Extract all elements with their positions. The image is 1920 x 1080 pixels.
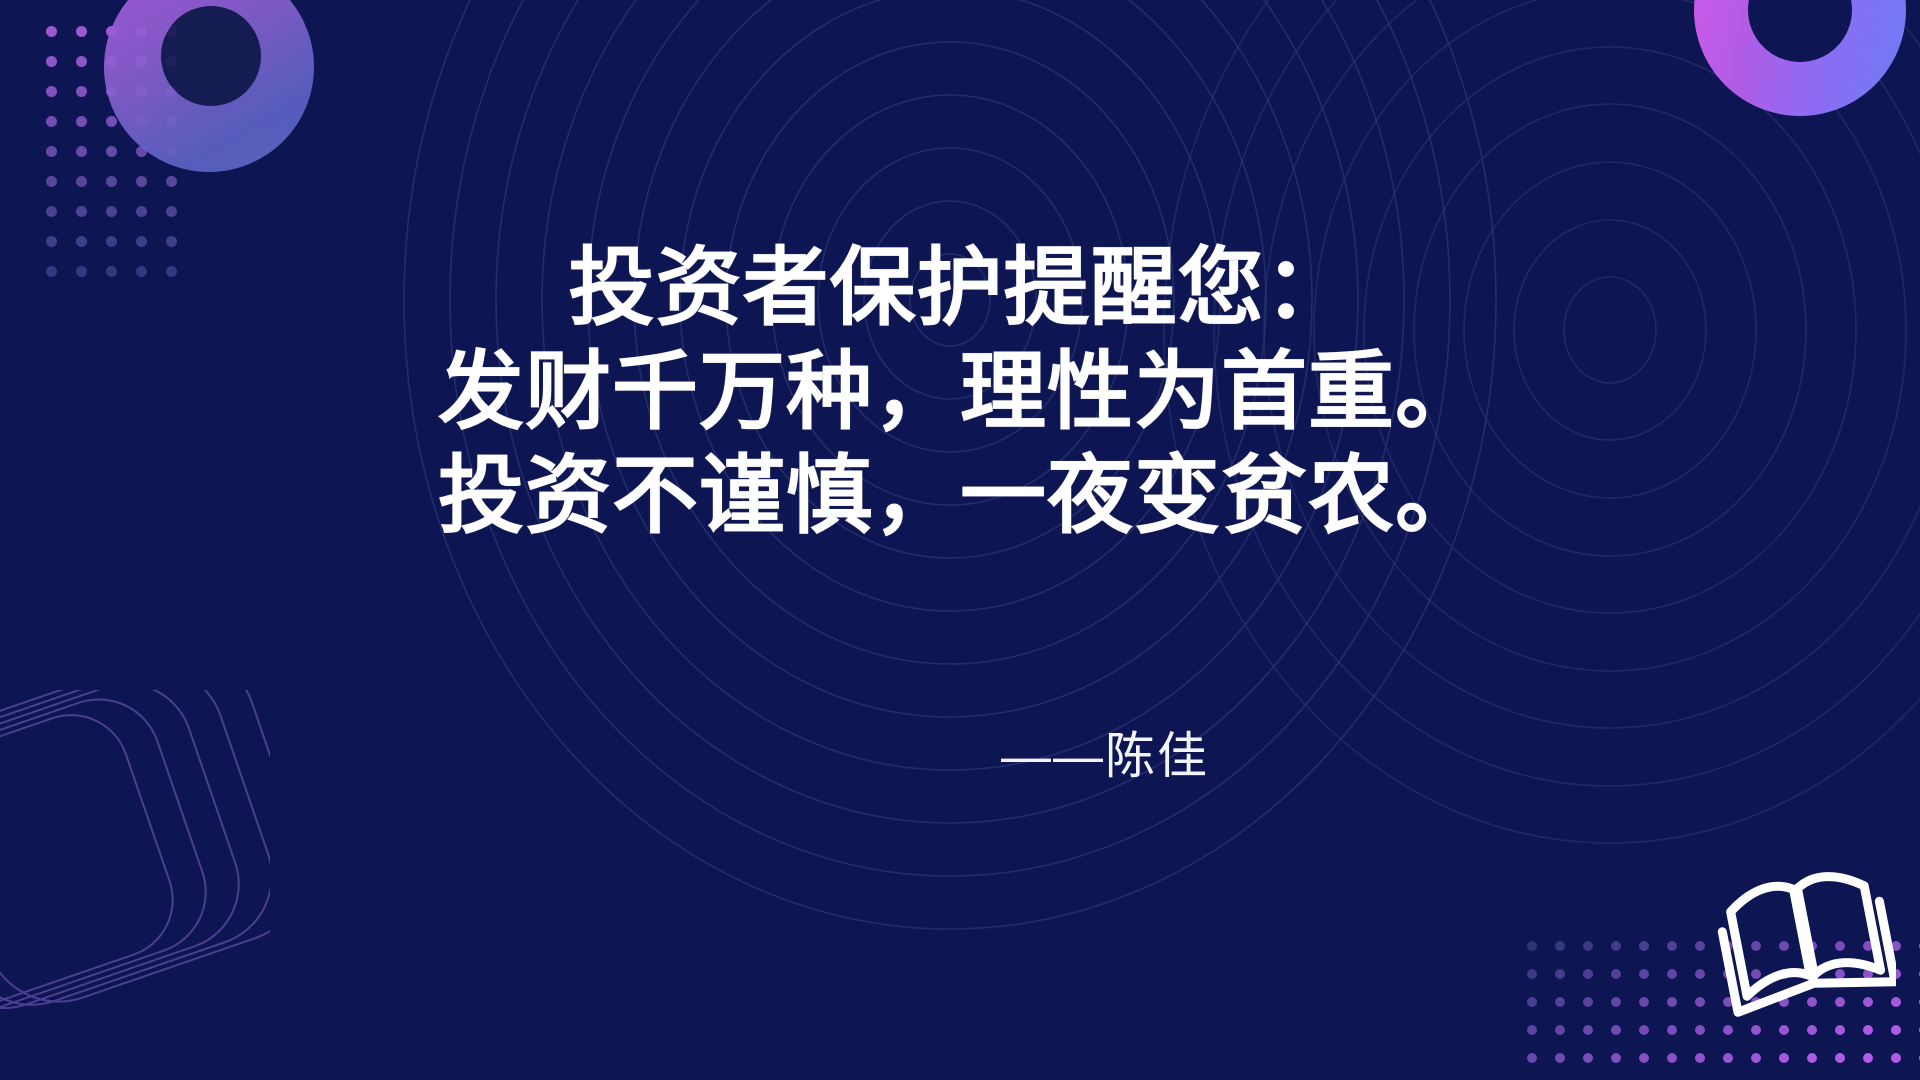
slide-canvas: 投资者保护提醒您： 发财千万种，理性为首重。 投资不谨慎，一夜变贫农。 ——陈佳 (0, 0, 1920, 1080)
ring-hole (161, 6, 261, 106)
grid-dot (1891, 1053, 1901, 1063)
grid-dot (1863, 1053, 1873, 1063)
grid-dot (1695, 1025, 1705, 1035)
grid-dot (1667, 1053, 1677, 1063)
grid-dot (1667, 1025, 1677, 1035)
grid-dot (106, 206, 117, 217)
grid-dot (46, 146, 57, 157)
grid-dot (106, 176, 117, 187)
grid-dot (1583, 941, 1593, 951)
grid-dot (1527, 997, 1537, 1007)
grid-dot (1583, 997, 1593, 1007)
grid-dot (1695, 997, 1705, 1007)
grid-dot (1639, 969, 1649, 979)
quote-block: 投资者保护提醒您： 发财千万种，理性为首重。 投资不谨慎，一夜变贫农。 (0, 236, 1920, 548)
grid-dot (1611, 1053, 1621, 1063)
grid-dot (1835, 1053, 1845, 1063)
grid-dot (1667, 997, 1677, 1007)
grid-dot (1779, 1053, 1789, 1063)
grid-dot (1667, 941, 1677, 951)
grid-dot (76, 86, 87, 97)
grid-dot (46, 206, 57, 217)
grid-dot (1555, 1025, 1565, 1035)
grid-dot (1695, 1053, 1705, 1063)
grid-dot (1527, 1053, 1537, 1063)
grid-dot (1639, 1053, 1649, 1063)
grid-dot (1583, 1025, 1593, 1035)
grid-dot (1611, 1025, 1621, 1035)
grid-dot (1695, 941, 1705, 951)
grid-dot (1555, 969, 1565, 979)
grid-dot (1583, 969, 1593, 979)
grid-dot (1527, 1025, 1537, 1035)
grid-dot (1695, 969, 1705, 979)
grid-dot (1639, 941, 1649, 951)
grid-dot (76, 206, 87, 217)
grid-dot (1611, 941, 1621, 951)
grid-dot (46, 86, 57, 97)
grid-dot (1611, 969, 1621, 979)
grid-dot (1555, 941, 1565, 951)
grid-dot (1667, 969, 1677, 979)
grid-dot (1527, 969, 1537, 979)
quote-line-3: 投资不谨慎，一夜变贫农。 (0, 444, 1920, 548)
grid-dot (1751, 1053, 1761, 1063)
grid-dot (166, 176, 177, 187)
grid-dot (46, 116, 57, 127)
grid-dot (46, 56, 57, 67)
grid-dot (1807, 1053, 1817, 1063)
ring-hole (1748, 0, 1852, 62)
grid-dot (1639, 1025, 1649, 1035)
grid-dot (106, 116, 117, 127)
quote-line-2: 发财千万种，理性为首重。 (0, 340, 1920, 444)
attribution-text: ——陈佳 (1001, 726, 1209, 786)
grid-dot (76, 116, 87, 127)
grid-dot (46, 176, 57, 187)
quote-line-1: 投资者保护提醒您： (0, 236, 1920, 340)
grid-dot (76, 176, 87, 187)
open-book-icon (1716, 858, 1896, 1028)
gradient-ring-icon (1694, 0, 1906, 116)
attribution: ——陈佳 (0, 726, 1920, 786)
grid-dot (76, 146, 87, 157)
grid-dot (1555, 1053, 1565, 1063)
grid-dot (1723, 1053, 1733, 1063)
grid-dot (106, 146, 117, 157)
grid-dot (136, 206, 147, 217)
grid-dot (76, 26, 87, 37)
grid-dot (166, 206, 177, 217)
grid-dot (1611, 997, 1621, 1007)
grid-dot (1527, 941, 1537, 951)
grid-dot (1583, 1053, 1593, 1063)
grid-dot (46, 26, 57, 37)
grid-dot (136, 176, 147, 187)
grid-dot (1639, 997, 1649, 1007)
grid-dot (1555, 997, 1565, 1007)
grid-dot (76, 56, 87, 67)
